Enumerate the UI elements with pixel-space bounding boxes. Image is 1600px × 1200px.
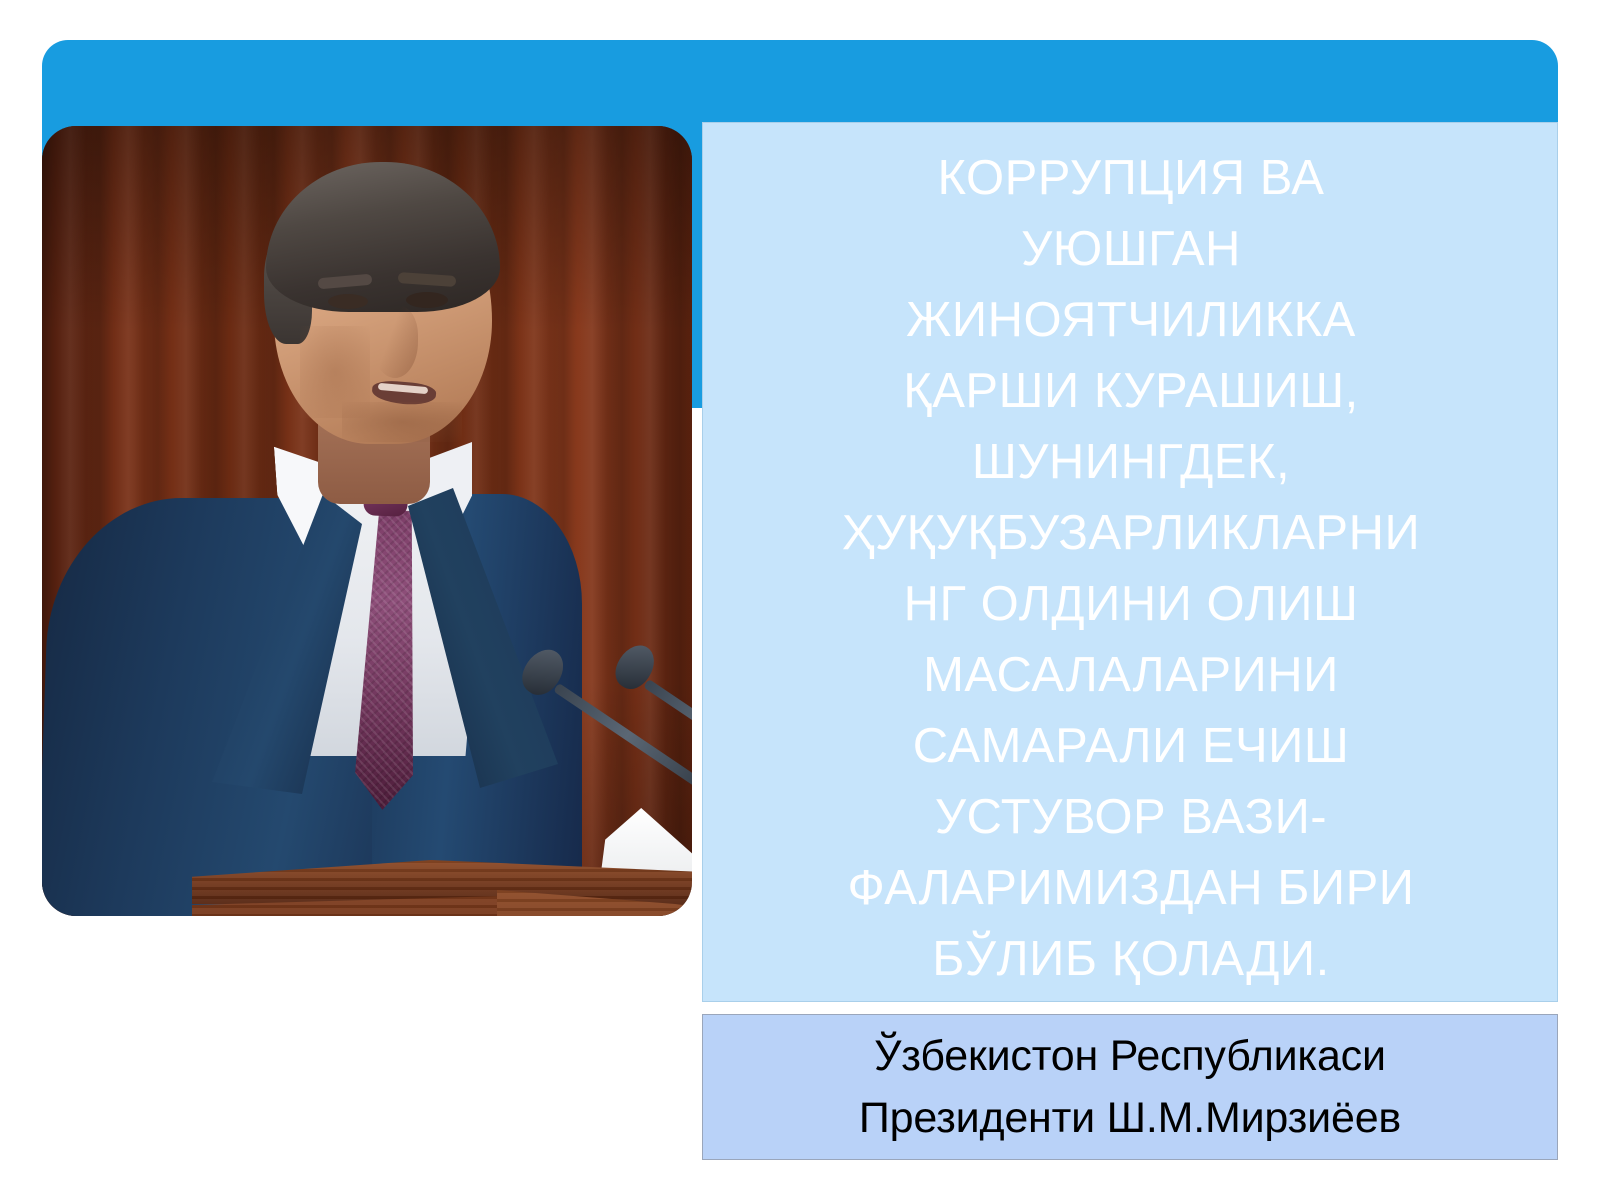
speaker-figure <box>42 126 692 916</box>
slide-canvas: КОРРУПЦИЯ ВА УЮШГАН ЖИНОЯТЧИЛИККА ҚАРШИ … <box>0 0 1600 1200</box>
nose <box>372 306 418 378</box>
eye-right <box>406 292 448 308</box>
caption-text: Ўзбекистон Республикаси Президенти Ш.М.М… <box>859 1025 1401 1149</box>
speaker-photo-frame <box>42 126 692 916</box>
chin-shading <box>342 402 462 442</box>
quote-text: КОРРУПЦИЯ ВА УЮШГАН ЖИНОЯТЧИЛИККА ҚАРШИ … <box>703 143 1558 995</box>
quote-panel: КОРРУПЦИЯ ВА УЮШГАН ЖИНОЯТЧИЛИККА ҚАРШИ … <box>702 122 1558 1002</box>
eye-left <box>328 294 368 309</box>
hair <box>266 162 500 312</box>
caption-box: Ўзбекистон Республикаси Президенти Ш.М.М… <box>702 1014 1558 1160</box>
speaker-photo <box>42 126 692 916</box>
